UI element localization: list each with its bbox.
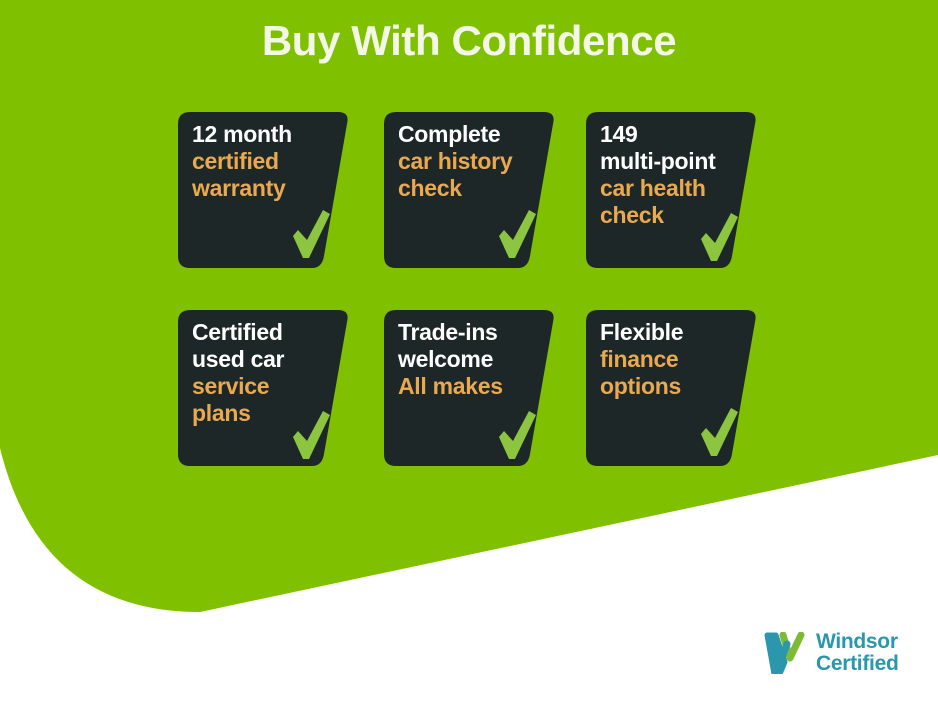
card-line: 12 month [192, 121, 342, 148]
check-icon [291, 208, 331, 260]
feature-card-complete-car-history-check[interactable]: Complete car history check [384, 112, 556, 268]
check-icon [497, 409, 537, 461]
card-line: service [192, 373, 342, 400]
card-line: welcome [398, 346, 548, 373]
card-line: 149 [600, 121, 750, 148]
brand-name-line-2: Certified [816, 653, 898, 675]
card-line: car history [398, 148, 548, 175]
brand-logo: Windsor Certified [763, 626, 931, 680]
feature-card-flexible-finance-options[interactable]: Flexible finance options [586, 310, 758, 466]
brand-name-line-1: Windsor [816, 631, 898, 653]
card-line: options [600, 373, 750, 400]
buy-with-confidence-graphic: Buy With Confidence 12 month certified w… [0, 0, 938, 704]
card-line: Complete [398, 121, 548, 148]
card-line: used car [192, 346, 342, 373]
card-text-block: Flexible finance options [600, 319, 750, 400]
card-line: car health [600, 175, 750, 202]
feature-card-trade-ins-welcome-all-makes[interactable]: Trade-ins welcome All makes [384, 310, 556, 466]
feature-card-row-1: 12 month certified warranty Complete car… [178, 112, 758, 268]
card-line: certified [192, 148, 342, 175]
feature-card-certified-used-car-service-plans[interactable]: Certified used car service plans [178, 310, 350, 466]
page-title: Buy With Confidence [0, 18, 938, 64]
card-line: All makes [398, 373, 548, 400]
feature-card-149-multi-point-car-health-check[interactable]: 149 multi-point car health check [586, 112, 758, 268]
card-text-block: Complete car history check [398, 121, 548, 202]
card-text-block: 12 month certified warranty [192, 121, 342, 202]
card-line: Certified [192, 319, 342, 346]
feature-card-grid: 12 month certified warranty Complete car… [178, 112, 758, 508]
feature-card-row-2: Certified used car service plans Trade-i… [178, 310, 758, 466]
card-line: warranty [192, 175, 342, 202]
card-line: Flexible [600, 319, 750, 346]
brand-wordmark: Windsor Certified [816, 631, 898, 676]
card-line: finance [600, 346, 750, 373]
check-icon [699, 406, 739, 458]
card-line: check [398, 175, 548, 202]
check-icon [699, 211, 739, 263]
check-icon [497, 208, 537, 260]
card-line: Trade-ins [398, 319, 548, 346]
check-icon [291, 409, 331, 461]
card-text-block: Trade-ins welcome All makes [398, 319, 548, 400]
windsor-w-icon [763, 632, 809, 674]
card-line: multi-point [600, 148, 750, 175]
feature-card-12-month-certified-warranty[interactable]: 12 month certified warranty [178, 112, 350, 268]
